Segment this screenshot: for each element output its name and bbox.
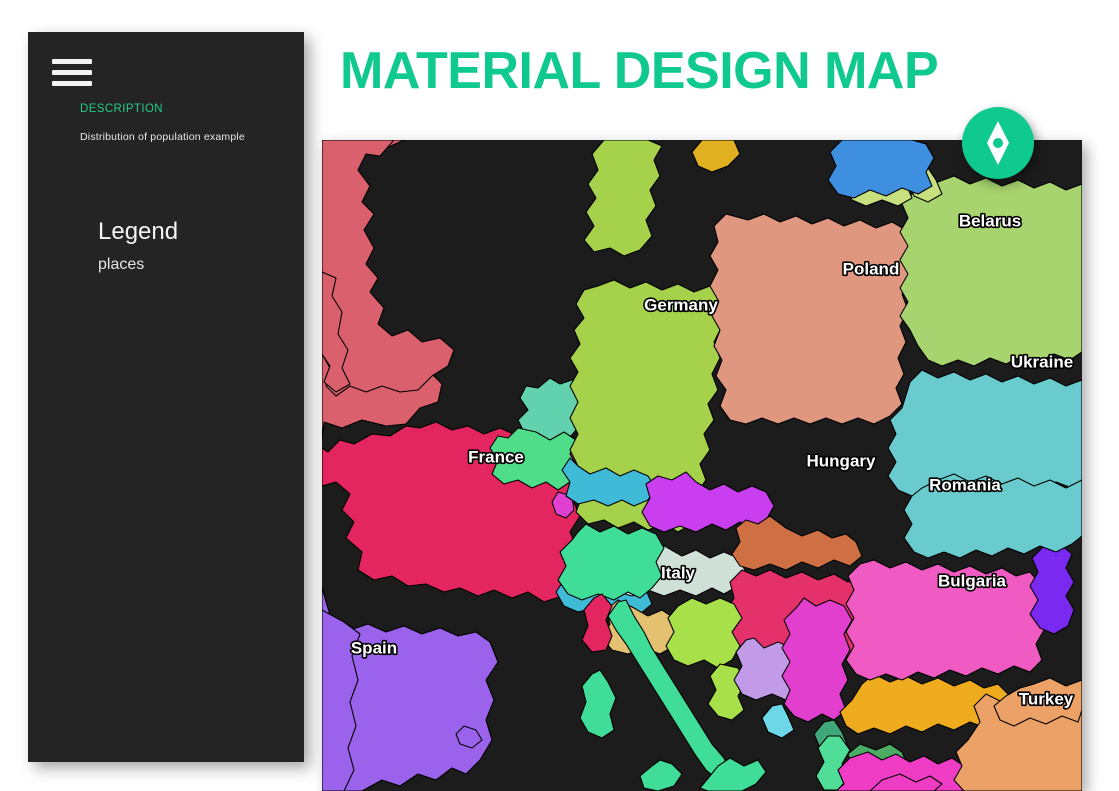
country-label: Ukraine	[1011, 352, 1073, 371]
map-canvas[interactable]: BelarusPolandGermanyUkraineFranceHungary…	[322, 140, 1082, 791]
country-label: Italy	[661, 563, 696, 582]
country-croatia[interactable]	[666, 598, 742, 668]
country-label: Poland	[843, 259, 900, 278]
description-label: DESCRIPTION	[80, 103, 163, 115]
country-belarus[interactable]	[900, 176, 1082, 366]
sidebar-panel: DESCRIPTION Distribution of population e…	[28, 32, 304, 762]
country-denmark[interactable]	[584, 140, 662, 256]
hamburger-menu-icon[interactable]	[52, 59, 92, 89]
page-title: MATERIAL DESIGN MAP	[340, 44, 938, 99]
legend-subtitle: places	[98, 256, 144, 274]
country-latvia[interactable]	[828, 140, 934, 198]
place-marker-fab-button[interactable]	[962, 107, 1034, 179]
place-marker-icon	[978, 119, 1018, 167]
country-label: Spain	[351, 638, 397, 657]
country-label: Hungary	[807, 451, 877, 470]
hamburger-bar-1	[52, 59, 92, 64]
country-label: Belarus	[959, 211, 1021, 230]
country-label: Germany	[644, 295, 718, 314]
country-poland[interactable]	[710, 214, 912, 424]
country-label: Turkey	[1019, 689, 1074, 708]
hamburger-bar-3	[52, 81, 92, 86]
country-label: Romania	[929, 475, 1001, 494]
hamburger-bar-2	[52, 70, 92, 75]
description-text: Distribution of population example	[80, 131, 245, 143]
country-serbia[interactable]	[782, 598, 852, 722]
legend-title: Legend	[98, 218, 178, 246]
country-label: Bulgaria	[938, 571, 1007, 590]
country-label: France	[468, 447, 524, 466]
